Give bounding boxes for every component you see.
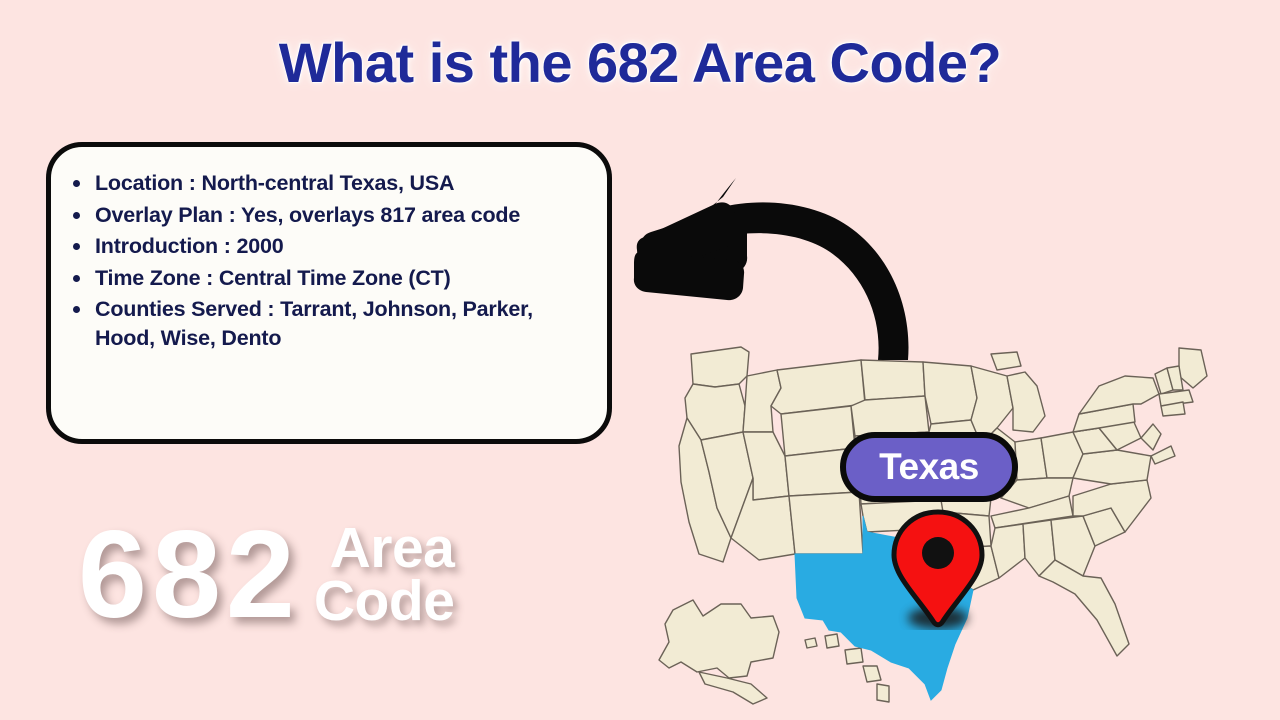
wordmark-number: 682 bbox=[78, 513, 300, 637]
wordmark-words: Area Code bbox=[314, 522, 455, 628]
wordmark-word-code: Code bbox=[314, 575, 455, 628]
info-box: Location : North-central Texas, USA Over… bbox=[46, 142, 612, 444]
map-pin-icon bbox=[886, 508, 990, 630]
page-title: What is the 682 Area Code? bbox=[0, 30, 1280, 95]
texas-badge-label: Texas bbox=[879, 446, 979, 488]
info-list: Location : North-central Texas, USA Over… bbox=[51, 147, 607, 353]
list-item: Overlay Plan : Yes, overlays 817 area co… bbox=[95, 201, 589, 230]
list-item: Time Zone : Central Time Zone (CT) bbox=[95, 264, 589, 293]
wordmark-word-area: Area bbox=[330, 522, 455, 575]
texas-badge: Texas bbox=[840, 432, 1018, 502]
list-item: Location : North-central Texas, USA bbox=[95, 169, 589, 198]
area-code-wordmark: 682 Area Code bbox=[78, 495, 618, 655]
list-item: Counties Served : Tarrant, Johnson, Park… bbox=[95, 295, 589, 352]
infographic-poster: What is the 682 Area Code? Location : No… bbox=[0, 0, 1280, 720]
list-item: Introduction : 2000 bbox=[95, 232, 589, 261]
